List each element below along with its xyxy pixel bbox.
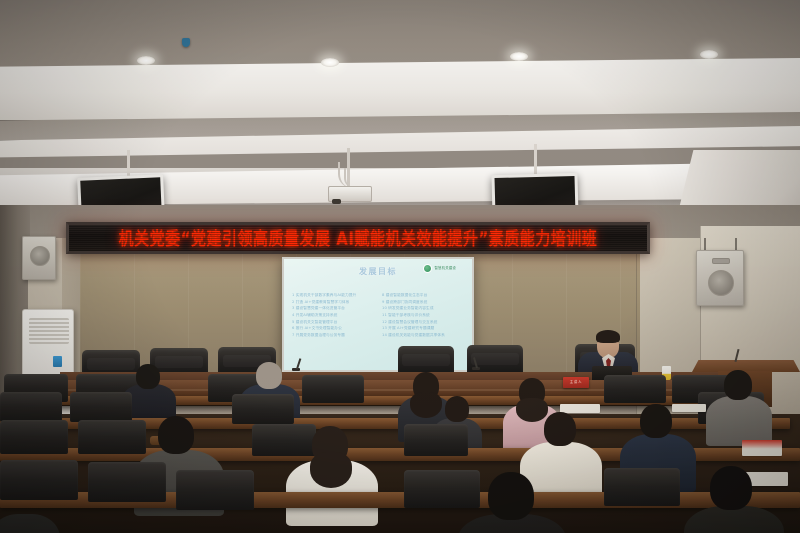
slide-bullet: 9 建设跨部门协同调度系统: [382, 300, 464, 304]
slide-bullet: 14 建设机关效能与党建数据共享体系: [382, 333, 464, 337]
audience-seat: [604, 468, 680, 506]
organization-logo-icon: [423, 264, 432, 273]
person-head: [640, 404, 672, 438]
ac-energy-label: [53, 356, 62, 367]
speaker-cone-icon: [708, 270, 734, 296]
slide-bullet: 1 实现机关干部数字素养与AI能力提升: [292, 293, 374, 297]
audience-seat: [0, 420, 68, 454]
slide-left-column: 1 实现机关干部数字素养与AI能力提升 2 打造 AI+党建教育智慧学习体系 3…: [292, 293, 374, 364]
audience-seat: [404, 424, 468, 456]
slide-bullet: 5 建设机关文智能管理平台: [292, 320, 374, 324]
monitor-mount-arm: [534, 144, 537, 176]
slide-bullet: 4 开发AI辅助决策支持系统: [292, 313, 374, 317]
slide-bullet: 11 智能干部考核与评价系统: [382, 313, 464, 317]
person-hair: [410, 392, 442, 418]
person-head: [256, 362, 282, 389]
sprinkler-head-icon: [182, 38, 190, 47]
right-wall-speaker: [696, 250, 744, 306]
ac-grille-icon: [29, 318, 69, 344]
person-body: [706, 396, 772, 446]
slide-bullet: 8 建设智能数据化生态平台: [382, 293, 464, 297]
led-banner-text: 机关党委“党建引领高质量发展 AI赋能机关效能提升”素质能力培训班: [119, 225, 598, 251]
person-head: [158, 416, 194, 454]
conference-hall-photo: 机关党委“党建引领高质量发展 AI赋能机关效能提升”素质能力培训班 发展目标 智…: [0, 0, 800, 533]
audience-seat: [176, 470, 254, 510]
audience-seat: [252, 424, 316, 456]
audience-seat: [0, 460, 78, 500]
downlight-icon: [510, 52, 528, 61]
audience-seat: [88, 462, 166, 502]
person-head: [544, 412, 576, 446]
slide-bullet: 10 研发党建业务智能内容生成: [382, 306, 464, 310]
presenter-hair: [596, 330, 620, 343]
person-head: [710, 466, 752, 510]
nameplate-text: 主讲人: [563, 377, 589, 388]
person-hair: [516, 398, 548, 422]
slide-bullet: 6 推行 AI+文书处理智能办公: [292, 326, 374, 330]
slide-logo: 智慧机关建设: [423, 264, 456, 273]
audience-seat: [302, 375, 364, 403]
led-banner: 机关党委“党建引领高质量发展 AI赋能机关效能提升”素质能力培训班: [66, 222, 650, 254]
downlight-icon: [700, 50, 718, 59]
audience-seat: [0, 392, 62, 422]
projector-lens-icon: [332, 199, 341, 204]
slide-bullet: 7 开展党务数据治理与公务专题: [292, 333, 374, 337]
downlight-icon: [321, 58, 339, 67]
slide-bullet: 3 建设智慧党建一体化进管平台: [292, 306, 374, 310]
presenter-nameplate: 主讲人: [563, 377, 589, 388]
person-head: [488, 472, 534, 520]
speaker-bracket: [704, 238, 706, 250]
audience-seat: [232, 394, 294, 424]
handout-paper-red: [742, 440, 782, 456]
speaker-tweeter-icon: [712, 258, 730, 264]
slide-bullet: 13 开展 AI+党建研究专题课题: [382, 326, 464, 330]
downlight-icon: [137, 56, 155, 65]
slide-logo-label: 智慧机关建设: [434, 266, 456, 270]
audience-seat: [70, 392, 132, 422]
audience-seat: [604, 375, 666, 403]
handout-paper: [672, 404, 706, 412]
speaker-cone-icon: [30, 246, 50, 266]
slide-bullet: 12 建设智慧会议管理与交互系统: [382, 320, 464, 324]
person-head: [724, 370, 752, 400]
speaker-bracket: [735, 238, 737, 250]
person-head: [136, 364, 160, 389]
person-head: [445, 396, 469, 422]
ceiling-soffit-upper: [0, 58, 800, 120]
person-hair: [310, 452, 352, 488]
audience-seat: [404, 470, 480, 508]
left-wall-speaker: [22, 236, 56, 280]
monitor-mount-arm: [127, 150, 130, 178]
slide-bullet: 2 打造 AI+党建教育智慧学习体系: [292, 300, 374, 304]
audience-seat: [78, 420, 146, 454]
handout-paper: [560, 404, 600, 413]
